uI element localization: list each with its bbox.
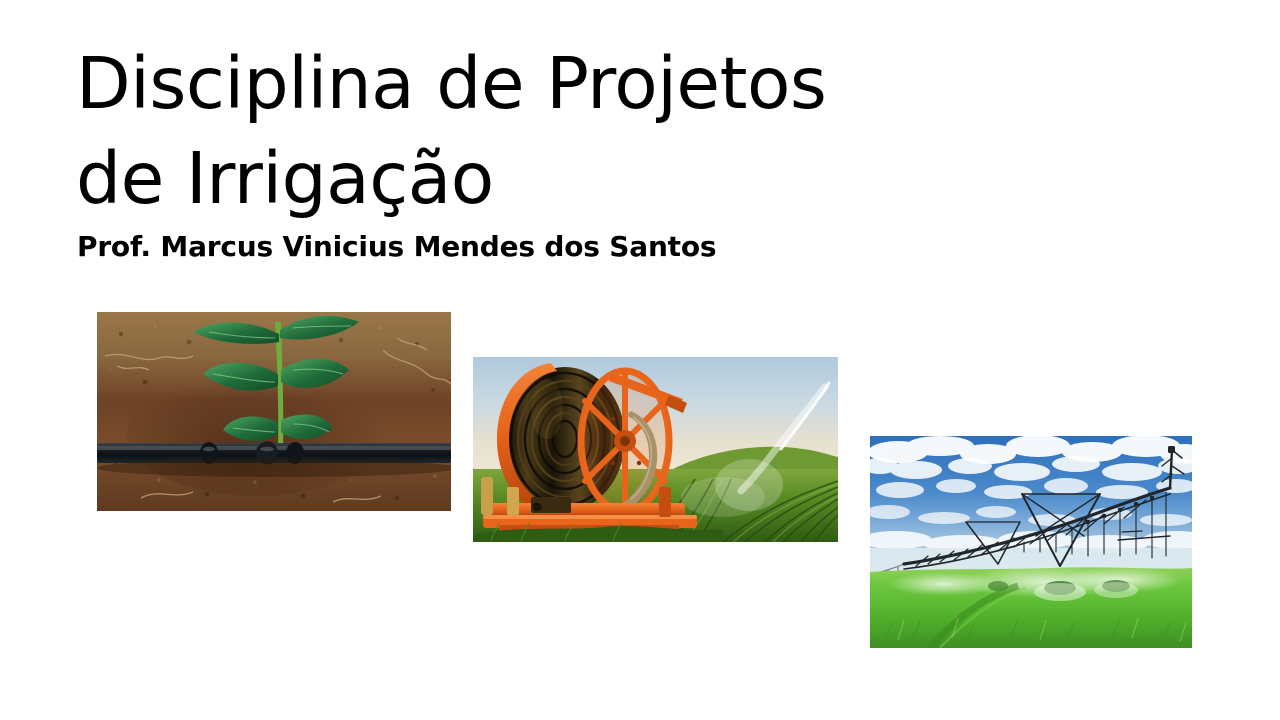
page-title: Disciplina de Projetos de Irrigação xyxy=(76,36,836,226)
subtitle-author: Prof. Marcus Vinicius Mendes dos Santos xyxy=(77,228,716,266)
title-line-2: de Irrigação xyxy=(76,131,836,226)
hose-reel-irrigator-illustration xyxy=(473,357,838,542)
center-pivot-photo xyxy=(870,436,1192,648)
presentation-slide: Disciplina de Projetos de Irrigação Prof… xyxy=(0,0,1280,720)
hose-reel-irrigator-photo xyxy=(473,357,838,542)
drip-irrigation-illustration xyxy=(97,312,451,511)
title-line-1: Disciplina de Projetos xyxy=(76,36,836,131)
drip-irrigation-photo xyxy=(97,312,451,511)
center-pivot-illustration xyxy=(870,436,1192,648)
